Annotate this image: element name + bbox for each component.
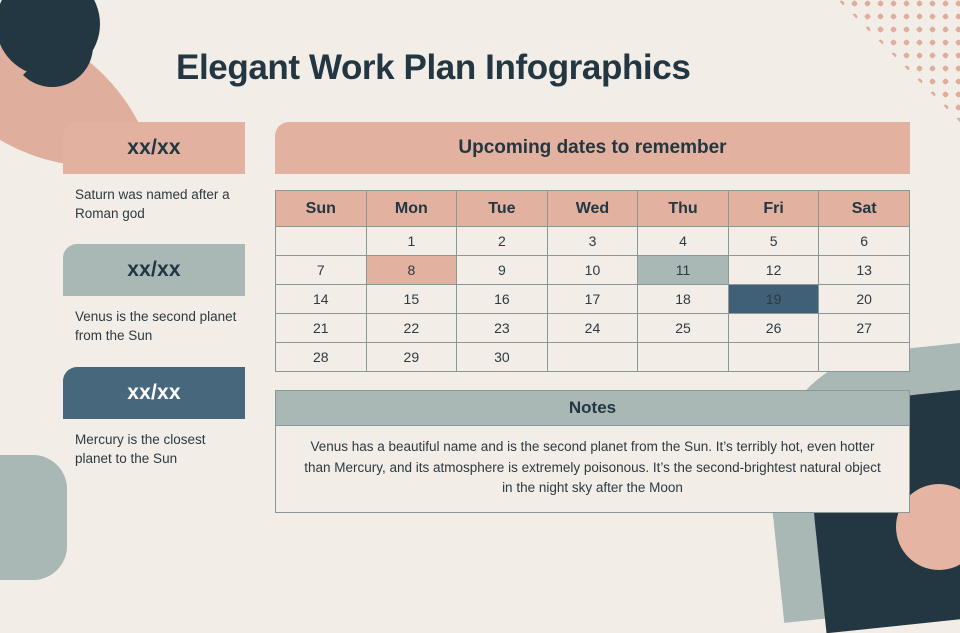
calendar-day-cell-19[interactable]: 19 <box>728 285 819 314</box>
calendar-day-cell-14[interactable]: 14 <box>276 285 367 314</box>
calendar-day-cell-27[interactable]: 27 <box>819 314 910 343</box>
calendar-day-cell-4[interactable]: 4 <box>638 227 729 256</box>
calendar-day-cell-empty <box>638 343 729 372</box>
calendar-week-row: 282930 <box>276 343 910 372</box>
calendar-week-row: 123456 <box>276 227 910 256</box>
calendar-day-cell-22[interactable]: 22 <box>366 314 457 343</box>
calendar-day-cell-29[interactable]: 29 <box>366 343 457 372</box>
calendar-day-cell-26[interactable]: 26 <box>728 314 819 343</box>
calendar-day-cell-empty <box>547 343 638 372</box>
calendar-day-cell-1[interactable]: 1 <box>366 227 457 256</box>
calendar-day-cell-25[interactable]: 25 <box>638 314 729 343</box>
calendar-day-cell-5[interactable]: 5 <box>728 227 819 256</box>
calendar-day-cell-empty <box>276 227 367 256</box>
calendar-day-cell-12[interactable]: 12 <box>728 256 819 285</box>
notes-header: Notes <box>276 391 909 426</box>
calendar-day-cell-7[interactable]: 7 <box>276 256 367 285</box>
calendar-day-cell-10[interactable]: 10 <box>547 256 638 285</box>
decoration-top-right-dot-grid <box>822 0 960 134</box>
calendar-day-cell-18[interactable]: 18 <box>638 285 729 314</box>
sidebar-item-3[interactable]: xx/xx Mercury is the closest planet to t… <box>63 367 245 468</box>
decoration-bottom-left-blob <box>0 455 67 580</box>
calendar-day-cell-28[interactable]: 28 <box>276 343 367 372</box>
calendar-week-row: 14151617181920 <box>276 285 910 314</box>
sidebar-item-2[interactable]: xx/xx Venus is the second planet from th… <box>63 244 245 345</box>
calendar-day-cell-30[interactable]: 30 <box>457 343 548 372</box>
calendar-panel: Upcoming dates to remember SunMonTueWedT… <box>275 122 910 513</box>
sidebar-item-3-caption: Mercury is the closest planet to the Sun <box>63 430 245 468</box>
calendar-day-cell-6[interactable]: 6 <box>819 227 910 256</box>
sidebar-item-1-caption: Saturn was named after a Roman god <box>63 185 245 223</box>
calendar-day-header-wed: Wed <box>547 191 638 227</box>
calendar-day-cell-2[interactable]: 2 <box>457 227 548 256</box>
calendar-day-cell-17[interactable]: 17 <box>547 285 638 314</box>
calendar-day-header-mon: Mon <box>366 191 457 227</box>
sidebar-item-2-date-chip[interactable]: xx/xx <box>63 244 245 296</box>
page-title: Elegant Work Plan Infographics <box>176 48 690 88</box>
calendar-day-cell-empty <box>819 343 910 372</box>
calendar-day-header-thu: Thu <box>638 191 729 227</box>
sidebar: xx/xx Saturn was named after a Roman god… <box>63 122 245 489</box>
sidebar-item-1[interactable]: xx/xx Saturn was named after a Roman god <box>63 122 245 223</box>
calendar-day-cell-11[interactable]: 11 <box>638 256 729 285</box>
calendar-day-header-fri: Fri <box>728 191 819 227</box>
calendar-day-cell-20[interactable]: 20 <box>819 285 910 314</box>
calendar-day-cell-24[interactable]: 24 <box>547 314 638 343</box>
calendar-day-header-sat: Sat <box>819 191 910 227</box>
calendar-day-cell-3[interactable]: 3 <box>547 227 638 256</box>
calendar-day-cell-9[interactable]: 9 <box>457 256 548 285</box>
calendar-day-cell-16[interactable]: 16 <box>457 285 548 314</box>
calendar-week-row: 78910111213 <box>276 256 910 285</box>
calendar-day-cell-23[interactable]: 23 <box>457 314 548 343</box>
notes-box: Notes Venus has a beautiful name and is … <box>275 390 910 513</box>
calendar-day-cell-21[interactable]: 21 <box>276 314 367 343</box>
calendar-header-row: SunMonTueWedThuFriSat <box>276 191 910 227</box>
calendar-day-header-tue: Tue <box>457 191 548 227</box>
notes-body: Venus has a beautiful name and is the se… <box>276 426 909 512</box>
calendar-day-cell-8[interactable]: 8 <box>366 256 457 285</box>
decoration-top-left-circle <box>0 0 100 76</box>
calendar-body: 1234567891011121314151617181920212223242… <box>276 227 910 372</box>
calendar-table: SunMonTueWedThuFriSat 123456789101112131… <box>275 190 910 372</box>
calendar-day-cell-empty <box>728 343 819 372</box>
calendar-day-cell-13[interactable]: 13 <box>819 256 910 285</box>
calendar-day-cell-15[interactable]: 15 <box>366 285 457 314</box>
sidebar-item-1-date-chip[interactable]: xx/xx <box>63 122 245 174</box>
calendar-banner-title: Upcoming dates to remember <box>275 122 910 174</box>
calendar-day-header-sun: Sun <box>276 191 367 227</box>
sidebar-item-2-caption: Venus is the second planet from the Sun <box>63 307 245 345</box>
sidebar-item-3-date-chip[interactable]: xx/xx <box>63 367 245 419</box>
decoration-top-left-circle-overlap <box>11 5 93 87</box>
calendar-week-row: 21222324252627 <box>276 314 910 343</box>
